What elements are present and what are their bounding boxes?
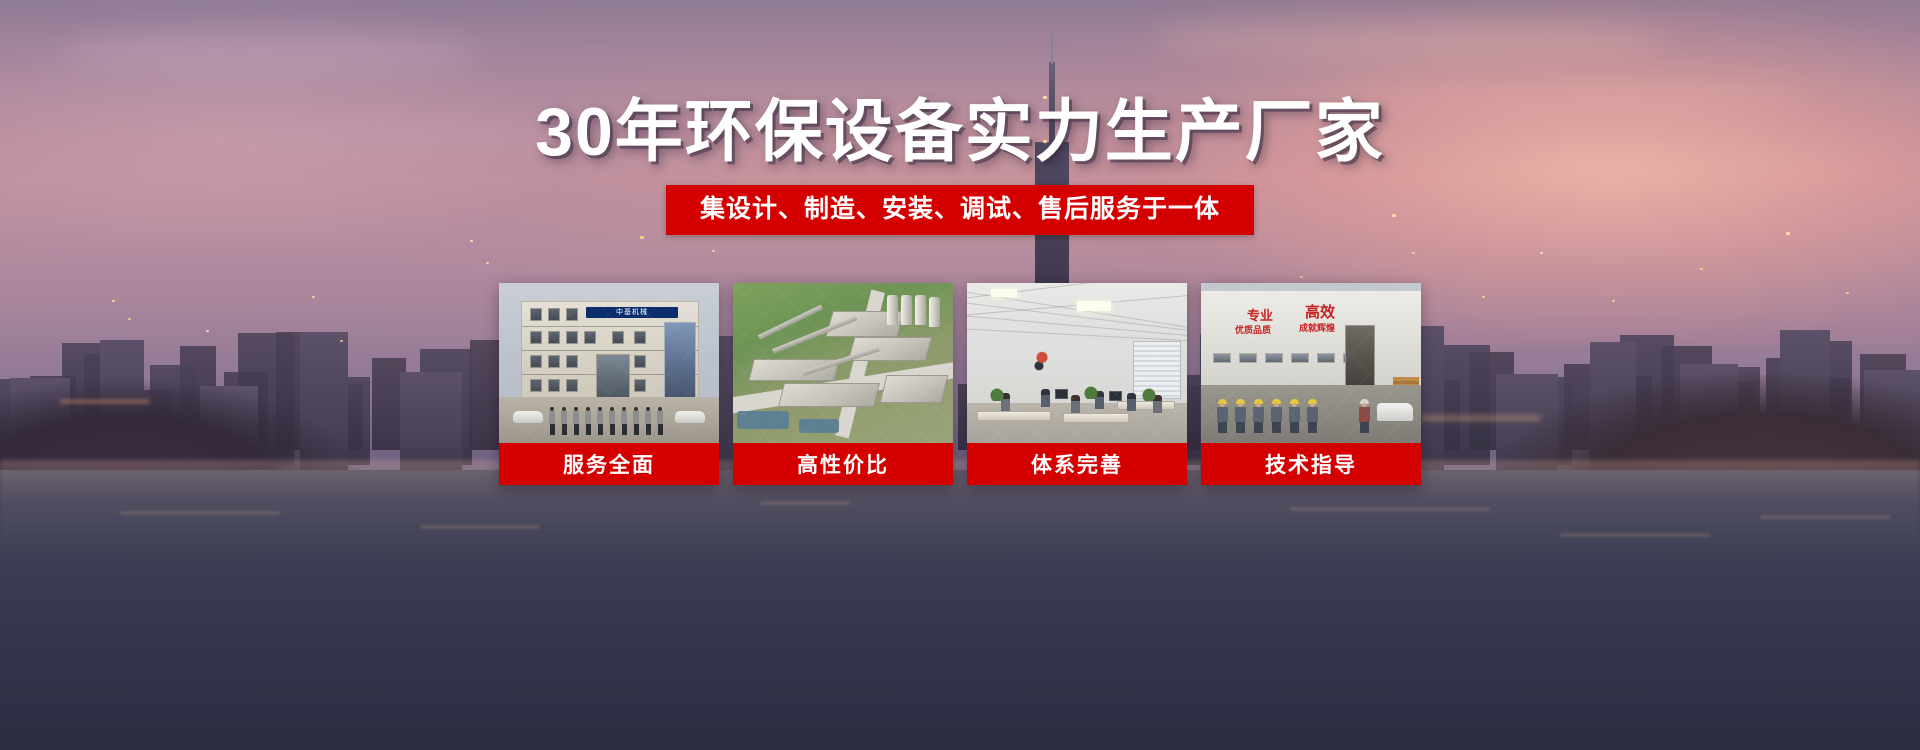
wall-slogan-sub-1: 优质品质 — [1235, 323, 1271, 336]
building-sign-label: 中基机械 — [586, 307, 678, 318]
page-title: 30年环保设备实力生产厂家 — [535, 98, 1385, 166]
feature-card[interactable]: 专业 高效 优质品质 成就辉煌 — [1201, 283, 1421, 485]
card-caption: 高性价比 — [733, 443, 953, 485]
subtitle-banner: 集设计、制造、安装、调试、售后服务于一体 — [666, 185, 1254, 235]
wall-slogan-2: 高效 — [1305, 301, 1335, 322]
card-caption: 技术指导 — [1201, 443, 1421, 485]
card-caption: 服务全面 — [499, 443, 719, 485]
feature-card[interactable]: 高性价比 — [733, 283, 953, 485]
feature-card[interactable]: 中基机械 — [499, 283, 719, 485]
card-photo-office — [967, 283, 1187, 443]
feature-card-list: 中基机械 — [499, 283, 1421, 485]
wall-slogan-sub-2: 成就辉煌 — [1299, 321, 1335, 334]
feature-card[interactable]: 体系完善 — [967, 283, 1187, 485]
card-photo-workshop: 专业 高效 优质品质 成就辉煌 — [1201, 283, 1421, 443]
hero-banner: 30年环保设备实力生产厂家 集设计、制造、安装、调试、售后服务于一体 中基机械 — [0, 0, 1920, 750]
card-photo-plant — [733, 283, 953, 443]
card-photo-service: 中基机械 — [499, 283, 719, 443]
wall-slogan-1: 专业 — [1247, 305, 1273, 324]
card-caption: 体系完善 — [967, 443, 1187, 485]
